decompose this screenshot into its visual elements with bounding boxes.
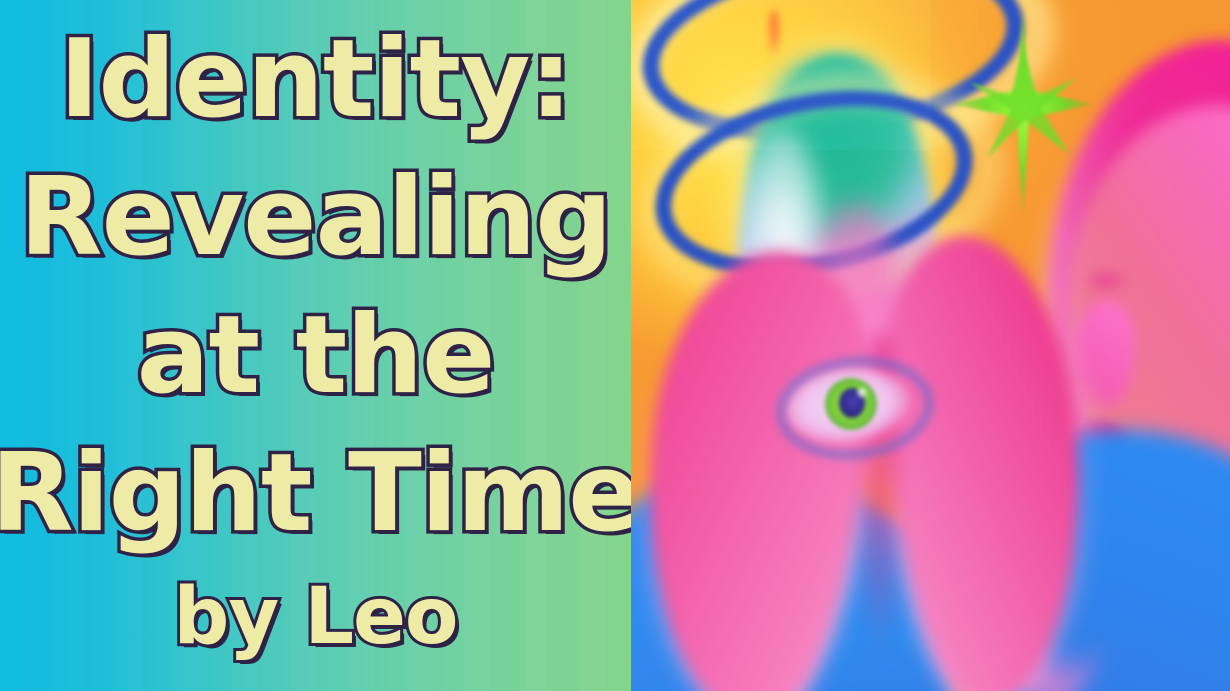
eye-highlight (855, 386, 869, 399)
title-panel: Identity: Revealing at the Right Time by… (0, 0, 631, 691)
title-line-1: Identity: (59, 26, 572, 134)
byline: by Leo (173, 578, 457, 656)
title-line-3: at the (137, 302, 495, 410)
flame-tick-icon (769, 10, 779, 60)
title-text-stack: Identity: Revealing at the Right Time by… (0, 26, 631, 656)
cover-canvas: Identity: Revealing at the Right Time by… (0, 0, 1230, 691)
title-line-4: Right Time (0, 440, 631, 548)
artwork-panel (631, 0, 1230, 691)
title-line-2: Revealing (19, 164, 611, 272)
